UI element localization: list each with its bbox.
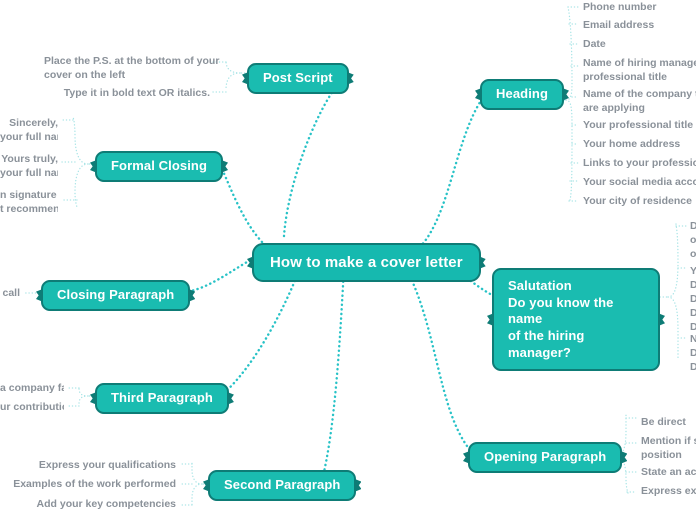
leaf-heading-email-address[interactable]: Email address bbox=[583, 19, 696, 33]
leaf-opening-mention-position[interactable]: Mention if s​o position bbox=[641, 435, 696, 463]
leaf-heading-professional-links[interactable]: Links to your professiona bbox=[583, 157, 696, 171]
node-formal-closing-label: Formal Closing bbox=[111, 158, 207, 175]
node-nub-left bbox=[242, 72, 249, 85]
leaf-third-your-contribution[interactable]: ur contribution bbox=[0, 401, 64, 415]
root-node-label: How to make a cover letter bbox=[270, 253, 463, 272]
leaf-heading-company-name[interactable]: Name of the company to are applying bbox=[583, 88, 696, 116]
leaf-heading-phone-number[interactable]: Phone number bbox=[583, 1, 696, 15]
leaf-salutation-group-3[interactable]: N D D bbox=[690, 333, 696, 375]
node-opening-paragraph[interactable]: Opening Paragraph bbox=[468, 442, 622, 473]
node-post-script[interactable]: Post Script bbox=[247, 63, 349, 94]
leaf-closing-call[interactable]: call bbox=[0, 287, 20, 301]
node-third-paragraph[interactable]: Third Paragraph bbox=[95, 383, 229, 414]
node-closing-paragraph-label: Closing Paragraph bbox=[57, 287, 174, 304]
node-heading[interactable]: Heading bbox=[480, 79, 564, 110]
node-nub-right bbox=[347, 72, 354, 85]
leaf-opening-be-direct[interactable]: Be direct bbox=[641, 416, 696, 430]
node-third-paragraph-label: Third Paragraph bbox=[111, 390, 213, 407]
leaf-heading-hiring-manager-title[interactable]: Name of hiring manager professional titl… bbox=[583, 57, 696, 85]
leaf-heading-city-of-residence[interactable]: Your city of residence bbox=[583, 195, 696, 209]
node-opening-paragraph-label: Opening Paragraph bbox=[484, 449, 606, 466]
leaf-third-company-fact[interactable]: a company fact bbox=[0, 382, 64, 396]
leaf-salutation-group-2[interactable]: Y D D D D bbox=[690, 265, 696, 335]
leaf-opening-state-accomplishment[interactable]: State an acc bbox=[641, 466, 696, 480]
node-nub-left bbox=[90, 160, 97, 173]
leaf-heading-home-address[interactable]: Your home address bbox=[583, 138, 696, 152]
leaf-heading-social-media[interactable]: Your social media accoun bbox=[583, 176, 696, 190]
node-nub-right bbox=[479, 256, 486, 269]
node-formal-closing[interactable]: Formal Closing bbox=[95, 151, 223, 182]
node-nub-left bbox=[203, 479, 210, 492]
node-nub-left bbox=[247, 256, 254, 269]
leaf-postscript-placement[interactable]: Place the P.S. at the bottom of your cov… bbox=[44, 55, 210, 83]
leaf-formal-yours-truly[interactable]: Yours truly, your full name bbox=[0, 153, 58, 181]
leaf-formal-signature-recommended[interactable]: n signature is t recommended bbox=[0, 189, 58, 217]
mindmap-canvas: How to make a cover letter Heading Phone… bbox=[0, 0, 696, 520]
node-closing-paragraph[interactable]: Closing Paragraph bbox=[41, 280, 190, 311]
leaf-second-key-competencies[interactable]: Add your key competencies bbox=[0, 498, 176, 512]
node-salutation-label: Salutation Do you know the name of the h… bbox=[508, 278, 644, 361]
node-nub-right bbox=[658, 313, 665, 326]
leaf-postscript-bold-italics[interactable]: Type it in bold text OR italics. bbox=[44, 87, 210, 101]
leaf-opening-express-excitement[interactable]: Express exci bbox=[641, 485, 696, 499]
node-post-script-label: Post Script bbox=[263, 70, 333, 87]
node-nub-right bbox=[354, 479, 361, 492]
root-node[interactable]: How to make a cover letter bbox=[252, 243, 481, 282]
node-nub-left bbox=[487, 313, 494, 326]
leaf-second-express-qualifications[interactable]: Express your qualifications bbox=[0, 459, 176, 473]
node-nub-right bbox=[562, 88, 569, 101]
leaf-heading-professional-title[interactable]: Your professional title bbox=[583, 119, 696, 133]
leaf-heading-date[interactable]: Date bbox=[583, 38, 696, 52]
node-nub-right bbox=[221, 160, 228, 173]
node-second-paragraph[interactable]: Second Paragraph bbox=[208, 470, 356, 501]
node-nub-right bbox=[188, 289, 195, 302]
node-nub-left bbox=[463, 451, 470, 464]
node-heading-label: Heading bbox=[496, 86, 548, 103]
node-nub-left bbox=[90, 392, 97, 405]
node-salutation[interactable]: Salutation Do you know the name of the h… bbox=[492, 268, 660, 371]
node-nub-left bbox=[475, 88, 482, 101]
node-second-paragraph-label: Second Paragraph bbox=[224, 477, 340, 494]
node-nub-left bbox=[36, 289, 43, 302]
leaf-second-work-examples[interactable]: Examples of the work performed bbox=[0, 478, 176, 492]
leaf-salutation-group-1[interactable]: D o o bbox=[690, 220, 696, 262]
leaf-formal-sincerely[interactable]: Sincerely, your full name bbox=[0, 117, 58, 145]
node-nub-right bbox=[620, 451, 627, 464]
node-nub-right bbox=[227, 392, 234, 405]
